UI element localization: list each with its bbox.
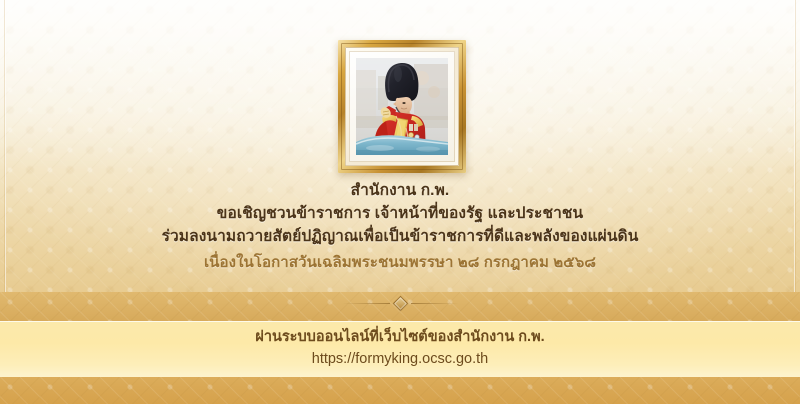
royal-portrait-photo-icon: [356, 58, 448, 155]
royal-portrait-frame: [338, 40, 466, 173]
headline-line-1: สำนักงาน ก.พ.: [0, 180, 800, 202]
headline-text-block: สำนักงาน ก.พ. ขอเชิญชวนข้าราชการ เจ้าหน้…: [0, 180, 800, 278]
headline-line-3: ร่วมลงนามถวายสัตย์ปฏิญาณเพื่อเป็นข้าราชก…: [0, 225, 800, 248]
website-url[interactable]: https://formyking.ocsc.go.th: [0, 348, 800, 370]
divider-rule-right: [411, 303, 459, 304]
diamond-ornament-icon: [392, 295, 408, 311]
divider-rule-left: [342, 303, 390, 304]
divider-ornament: [0, 296, 800, 310]
footer-band-lower-texture: [0, 377, 800, 404]
royal-invitation-poster: สำนักงาน ก.พ. ขอเชิญชวนข้าราชการ เจ้าหน้…: [0, 0, 800, 404]
footer-text-block: ผ่านระบบออนไลน์ที่เว็บไซต์ของสำนักงาน ก.…: [0, 326, 800, 370]
occasion-line: เนื่องในโอกาสวันเฉลิมพระชนมพรรษา ๒๘ กรกฎ…: [0, 248, 800, 278]
footer-band-lower: [0, 377, 800, 404]
headline-line-2: ขอเชิญชวนข้าราชการ เจ้าหน้าที่ของรัฐ และ…: [0, 202, 800, 225]
channel-line: ผ่านระบบออนไลน์ที่เว็บไซต์ของสำนักงาน ก.…: [0, 326, 800, 348]
